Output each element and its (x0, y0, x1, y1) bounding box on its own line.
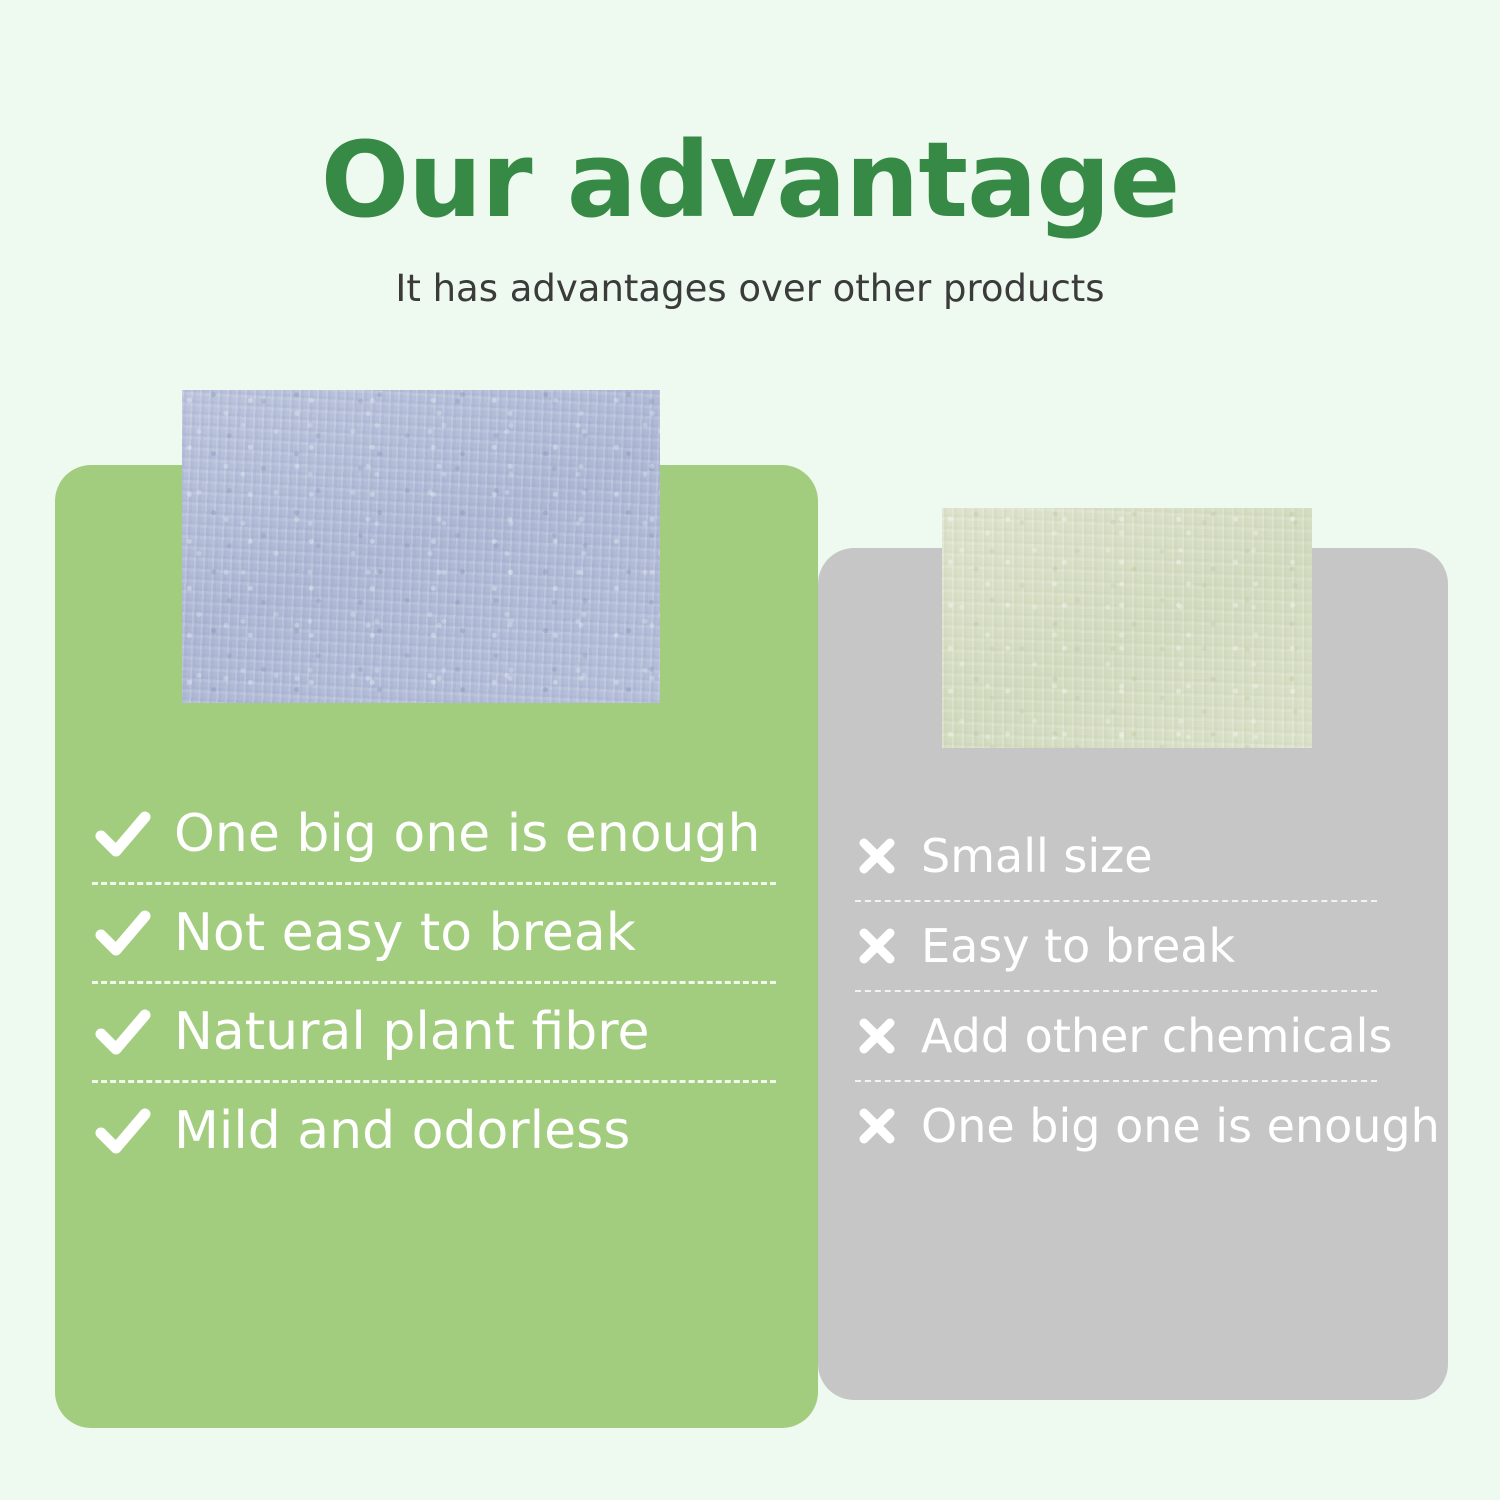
cross-icon (855, 1104, 899, 1148)
competitor-list: Small size Easy to break Add other chemi… (855, 812, 1435, 1170)
list-item: Small size (855, 812, 1435, 900)
list-item-label: Natural plant fibre (174, 1003, 650, 1061)
beige-green-fabric-cloth-swatch (942, 508, 1312, 748)
cross-icon (855, 834, 899, 878)
cross-icon (855, 1014, 899, 1058)
list-item-label: Easy to break (921, 920, 1235, 972)
check-icon (92, 902, 154, 964)
cross-icon (855, 924, 899, 968)
list-item: Easy to break (855, 902, 1435, 990)
list-item: Mild and odorless (92, 1083, 776, 1179)
check-icon (92, 1001, 154, 1063)
list-item-label: Mild and odorless (174, 1102, 630, 1160)
page-subtitle: It has advantages over other products (0, 266, 1500, 312)
list-item-label: Small size (921, 830, 1153, 882)
list-item-label: One big one is enough (174, 805, 760, 863)
list-item: Add other chemicals (855, 992, 1435, 1080)
list-item: One big one is enough (92, 786, 776, 882)
list-item: Natural plant fibre (92, 984, 776, 1080)
list-item-label: One big one is enough (921, 1100, 1440, 1152)
advantage-comparison-graphic: Our advantage It has advantages over oth… (0, 0, 1500, 1500)
check-icon (92, 1100, 154, 1162)
advantage-list: One big one is enough Not easy to break … (92, 786, 776, 1179)
check-icon (92, 803, 154, 865)
blue-fabric-cloth-swatch (182, 390, 660, 703)
list-item-label: Not easy to break (174, 904, 636, 962)
page-title: Our advantage (0, 124, 1500, 236)
list-item: Not easy to break (92, 885, 776, 981)
list-item: One big one is enough (855, 1082, 1435, 1170)
list-item-label: Add other chemicals (921, 1010, 1392, 1062)
